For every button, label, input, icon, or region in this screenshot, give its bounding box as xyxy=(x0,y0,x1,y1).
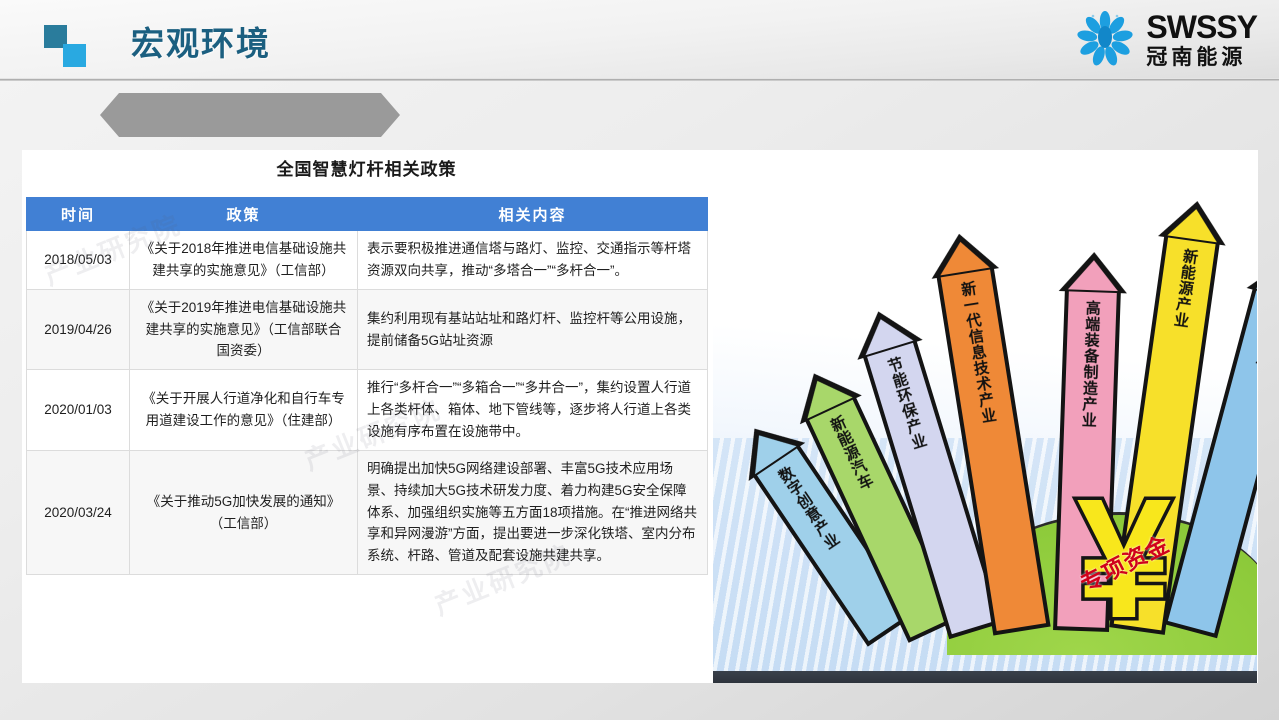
industry-growth-arrows-illustration: 数字创意产业 新能源汽车 节能环保产业 新一代信息技术产业 高端装备制造产业 新… xyxy=(713,150,1257,683)
table-header-row: 时间 政策 相关内容 xyxy=(27,198,708,231)
section-tab-label: 国家政策指示 xyxy=(169,97,331,133)
cell-date: 2019/04/26 xyxy=(27,289,130,370)
cell-policy: 《关于2019年推进电信基础设施共建共享的实施意见》（工信部联合国资委） xyxy=(130,289,358,370)
slide: 宏观环境 xyxy=(0,0,1279,720)
column-header-time: 时间 xyxy=(27,198,130,231)
page-title: 宏观环境 xyxy=(131,17,271,65)
cell-content: 集约利用现有基站站址和路灯杆、监控杆等公用设施，提前储备5G站址资源 xyxy=(358,289,708,370)
cell-date: 2020/01/03 xyxy=(27,370,130,451)
water-drop-petals-icon xyxy=(1074,8,1136,70)
cell-policy: 《关于推动5G加快发展的通知》（工信部） xyxy=(130,450,358,574)
header-separator xyxy=(0,78,1279,81)
table-title: 全国智慧灯杆相关政策 xyxy=(26,155,707,180)
policy-table: 时间 政策 相关内容 2018/05/03 《关于2018年推进电信基础设施共建… xyxy=(26,197,708,575)
special-fund-coin: ¥ 专项资金 xyxy=(1049,484,1199,639)
cell-content: 明确提出加快5G网络建设部署、丰富5G技术应用场景、持续加大5G技术研发力度、着… xyxy=(358,450,708,574)
table-row: 2020/03/24 《关于推动5G加快发展的通知》（工信部） 明确提出加快5G… xyxy=(27,450,708,574)
section-tab[interactable]: 国家政策指示 xyxy=(100,93,400,137)
cell-policy: 《关于开展人行道净化和自行车专用道建设工作的意见》（住建部） xyxy=(130,370,358,451)
decor-square-light xyxy=(63,44,86,67)
brand-text: SWSSY 冠南能源 xyxy=(1146,11,1257,68)
column-header-policy: 政策 xyxy=(130,198,358,231)
arrow-label: 高端装备制造产业 xyxy=(1081,300,1100,428)
cell-policy: 《关于2018年推进电信基础设施共建共享的实施意见》（工信部） xyxy=(130,231,358,290)
brand-subtitle: 冠南能源 xyxy=(1146,47,1246,68)
policy-table-block: 全国智慧灯杆相关政策 时间 政策 相关内容 2018/05/03 《关于2018… xyxy=(26,155,707,575)
brand-logo: SWSSY 冠南能源 xyxy=(1074,8,1257,70)
cell-date: 2018/05/03 xyxy=(27,231,130,290)
illustration-bottom-bar xyxy=(713,671,1257,683)
cell-content: 表示要积极推进通信塔与路灯、监控、交通指示等杆塔资源双向共享，推动“多塔合一”“… xyxy=(358,231,708,290)
column-header-content: 相关内容 xyxy=(358,198,708,231)
cell-date: 2020/03/24 xyxy=(27,450,130,574)
slide-header: 宏观环境 xyxy=(0,0,1279,79)
table-row: 2018/05/03 《关于2018年推进电信基础设施共建共享的实施意见》（工信… xyxy=(27,231,708,290)
table-row: 2020/01/03 《关于开展人行道净化和自行车专用道建设工作的意见》（住建部… xyxy=(27,370,708,451)
policy-table-body: 2018/05/03 《关于2018年推进电信基础设施共建共享的实施意见》（工信… xyxy=(27,231,708,575)
brand-name: SWSSY xyxy=(1146,11,1257,43)
cell-content: 推行“多杆合一”“多箱合一”“多井合一”，集约设置人行道上各类杆体、箱体、地下管… xyxy=(358,370,708,451)
decor-squares-icon xyxy=(44,25,86,67)
table-row: 2019/04/26 《关于2019年推进电信基础设施共建共享的实施意见》（工信… xyxy=(27,289,708,370)
